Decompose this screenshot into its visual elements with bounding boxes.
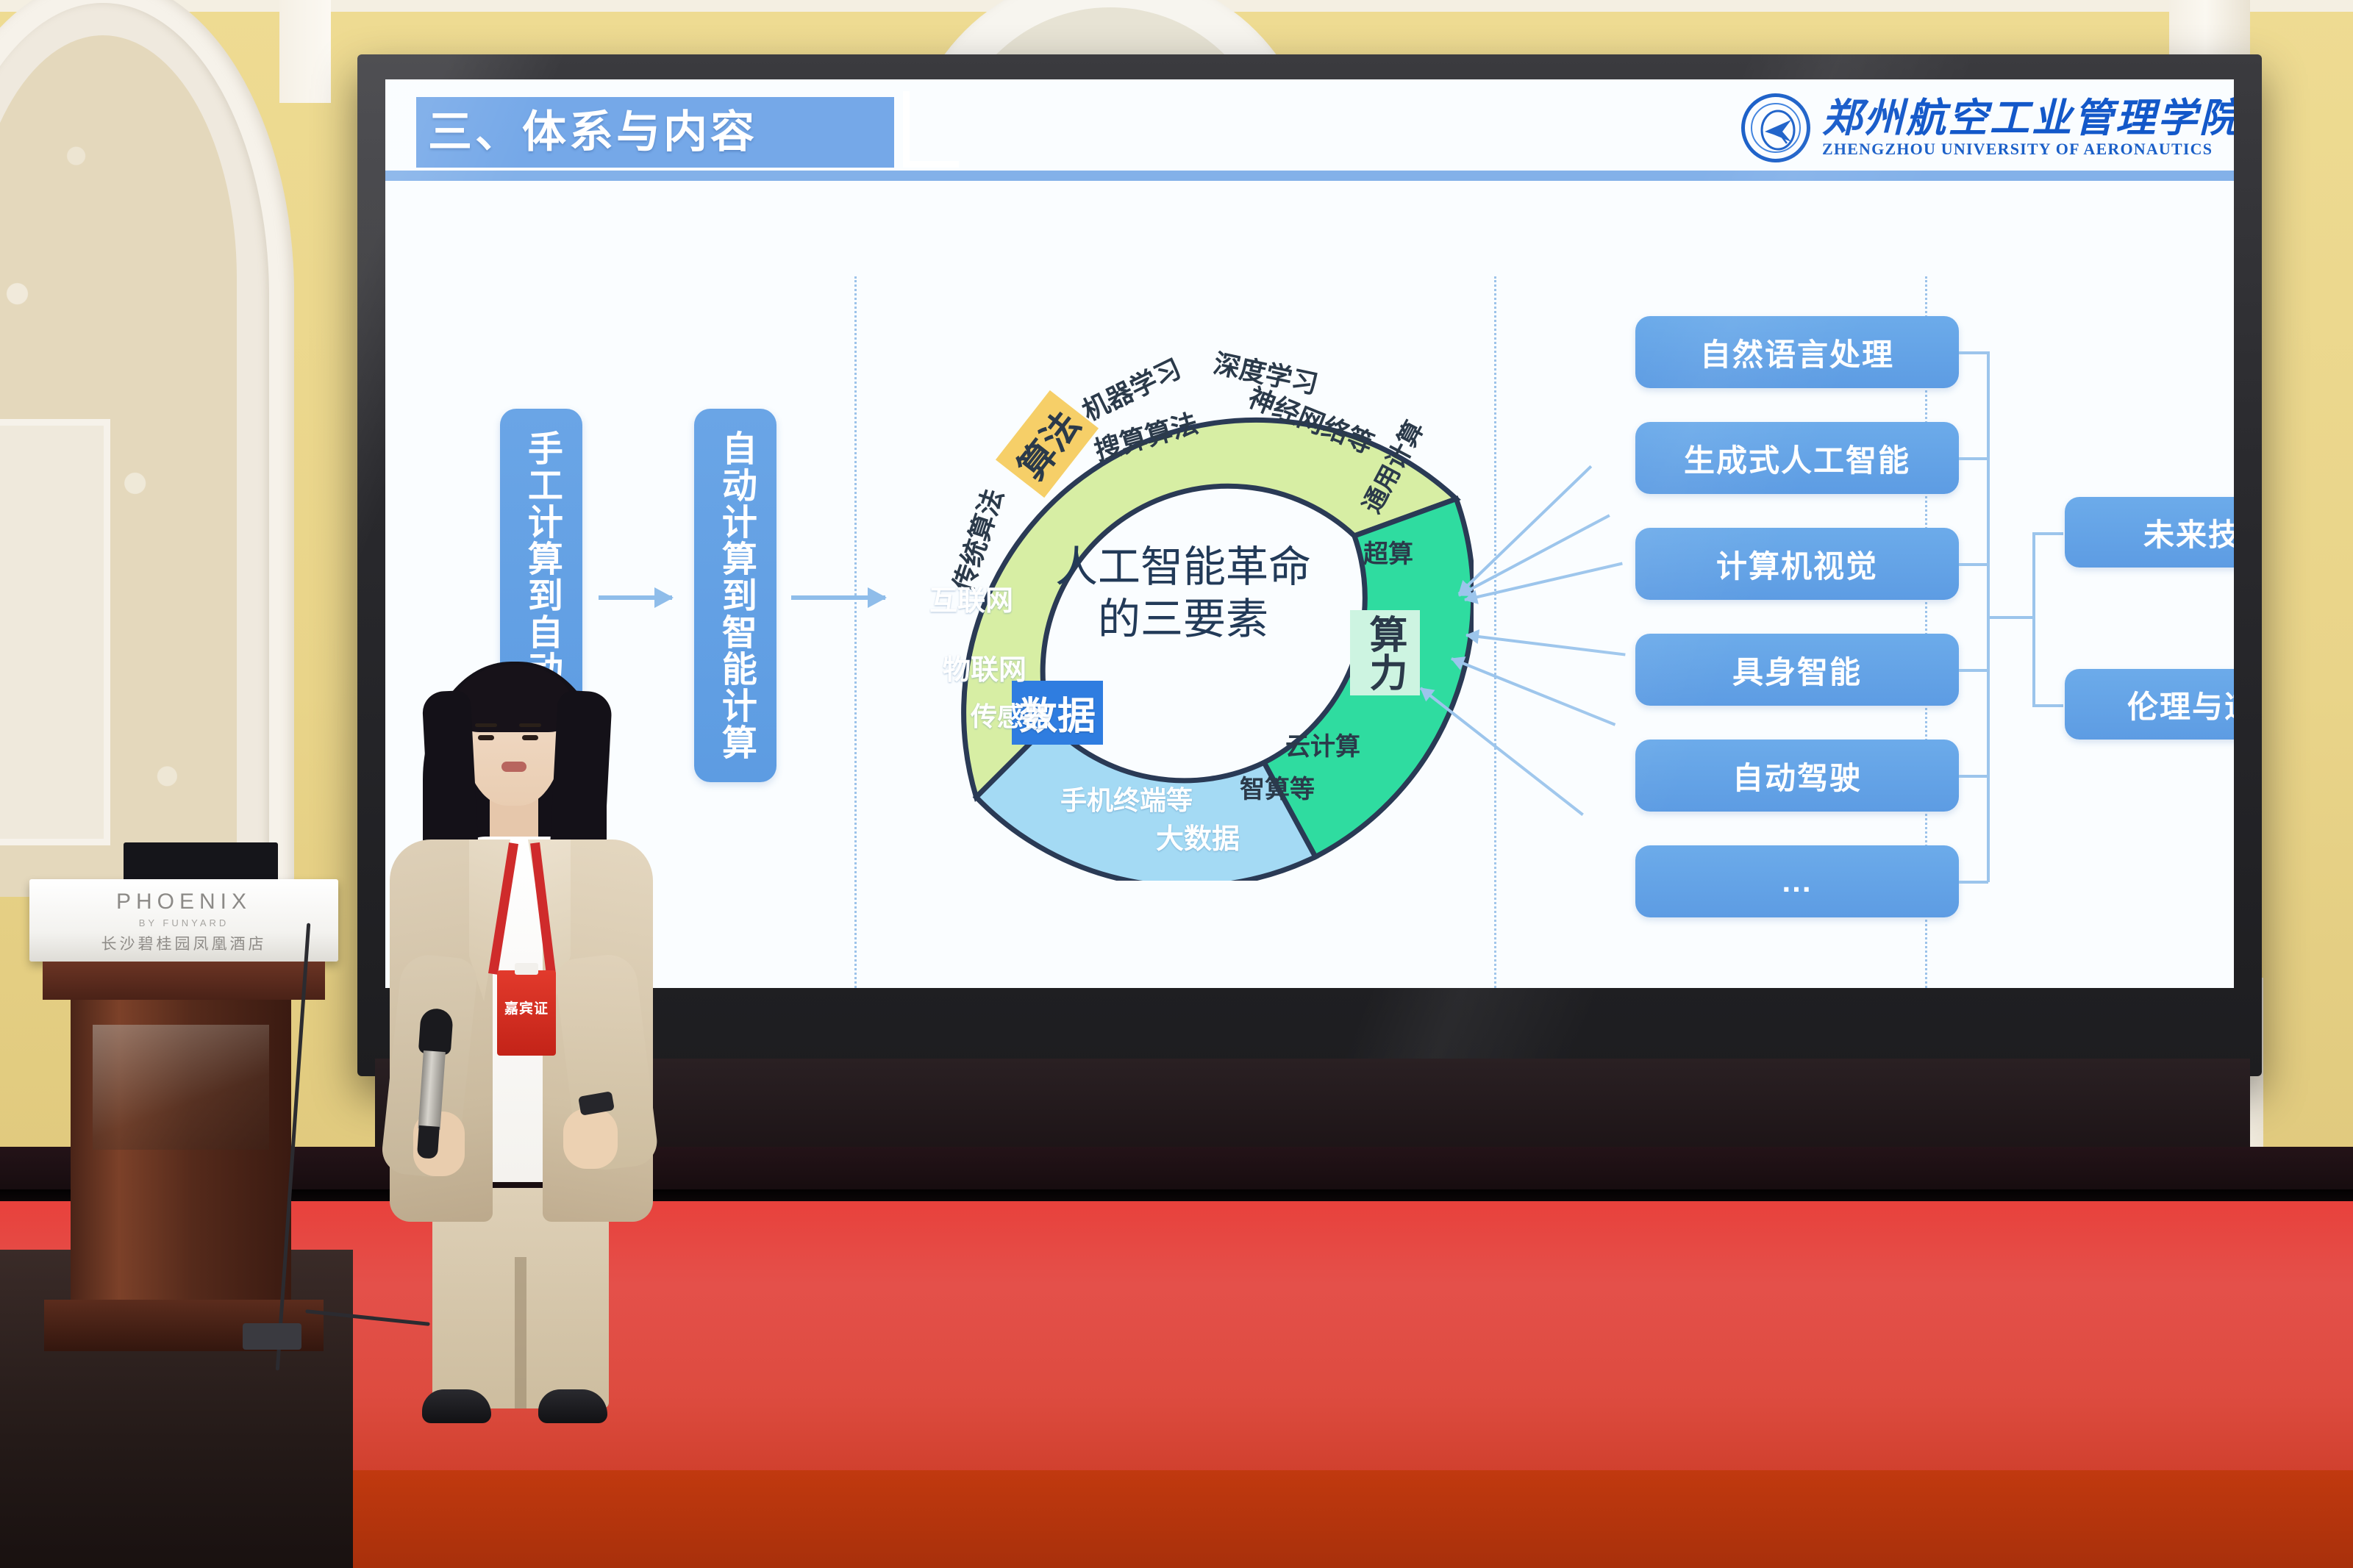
- app-arrow-3-icon: [1465, 562, 1623, 601]
- presenter-hand-right: [563, 1109, 618, 1169]
- application-label: ...: [1782, 864, 1812, 899]
- flow-arrow-2-icon: [791, 595, 885, 600]
- future-label: 未来技术: [2143, 510, 2234, 555]
- app-arrow-5-icon: [1451, 657, 1615, 726]
- university-logo: 郑州航空工业管理学院 ZHENGZHOU UNIVERSITY OF AERON…: [1741, 88, 2212, 168]
- donut-item-cloud-computing: 云计算: [1285, 726, 1360, 762]
- donut-center-title: 人工智能革命 的三要素: [1029, 520, 1338, 667]
- status-badge: 嘉宾证: [497, 970, 556, 1056]
- presenter-eye-right: [522, 735, 538, 740]
- presenter-shoe-right: [538, 1389, 607, 1423]
- logo-name-cn: 郑州航空工业管理学院: [1822, 97, 2234, 140]
- applications-bracket-stem: [1987, 616, 2032, 619]
- future-label: 伦理与道德: [2127, 682, 2234, 727]
- left-archway: [0, 0, 294, 897]
- application-label: 自动驾驶: [1732, 753, 1862, 798]
- donut-item-supercomputing: 超算: [1363, 534, 1413, 570]
- applications-bracket-tick: [1959, 669, 1988, 672]
- badge-label: 嘉宾证: [504, 998, 549, 1017]
- title-bracket-decoration: [903, 91, 959, 168]
- lectern-monitor: [124, 842, 278, 884]
- flow-arrow-1-icon: [599, 595, 672, 600]
- applications-bracket-tick: [1959, 881, 1988, 884]
- application-box-computer-vision[interactable]: 计算机视觉: [1635, 528, 1959, 600]
- application-box-more[interactable]: ...: [1635, 845, 1959, 917]
- presenter-brow-left: [475, 723, 497, 727]
- column-divider: [854, 276, 857, 988]
- column-divider: [1494, 276, 1496, 988]
- venue-name-cn: 长沙碧桂园凤凰酒店: [29, 932, 338, 954]
- donut-item-mobile-terminals: 手机终端等: [1060, 779, 1193, 817]
- app-arrow-4-icon: [1466, 634, 1626, 656]
- donut-item-sensors: 传感器: [971, 695, 1050, 734]
- applications-bracket-tick: [1959, 775, 1988, 778]
- future-bracket-tick: [2032, 532, 2063, 535]
- donut-item-big-data: 大数据: [1156, 816, 1240, 856]
- three-elements-donut-chart: 人工智能革命 的三要素 算法 机器学习 搜算算法 深度学习 神经网络等 传统算法…: [893, 300, 1474, 881]
- presenter: 嘉宾证: [346, 647, 691, 1426]
- donut-item-intelligent-computing: 智算等: [1240, 769, 1315, 805]
- presenter-eye-left: [478, 735, 494, 740]
- lectern-glass-panel: [93, 1025, 269, 1150]
- header-underline: [385, 171, 2234, 181]
- venue-brand-name: PHOENIX: [29, 889, 338, 914]
- stage-front-face: [0, 1470, 2353, 1568]
- application-box-embodied-ai[interactable]: 具身智能: [1635, 634, 1959, 706]
- slide-header: 三、体系与内容 郑州航空工业管理学院 ZHENGZHOU: [385, 79, 2234, 171]
- applications-bracket-tick: [1959, 457, 1988, 460]
- applications-bracket-tick: [1959, 563, 1988, 566]
- stage-box-label: 自动计算到智能计算: [715, 430, 755, 761]
- floor-equipment-box: [243, 1323, 301, 1350]
- conference-room-scene: 三、体系与内容 郑州航空工业管理学院 ZHENGZHOU: [0, 0, 2353, 1568]
- page-title: 三、体系与内容: [428, 109, 757, 156]
- stage-box-auto-to-intelligent[interactable]: 自动计算到智能计算: [694, 409, 776, 782]
- future-box-future-technology[interactable]: 未来技术: [2065, 497, 2234, 568]
- venue-brand-tagline: BY FUNYARD: [29, 917, 338, 928]
- future-box-ethics-and-morality[interactable]: 伦理与道德: [2065, 669, 2234, 740]
- lectern-sign-panel: PHOENIX BY FUNYARD 长沙碧桂园凤凰酒店: [29, 879, 338, 962]
- application-box-nlp[interactable]: 自然语言处理: [1635, 316, 1959, 388]
- presenter-brow-right: [519, 723, 541, 727]
- applications-bracket-tick: [1959, 351, 1988, 354]
- aircraft-seal-icon: [1741, 93, 1810, 162]
- application-label: 具身智能: [1732, 648, 1862, 692]
- presenter-trouser-seam: [515, 1257, 526, 1408]
- donut-item-internet: 互联网: [929, 578, 1013, 618]
- presenter-mouth: [501, 762, 526, 772]
- donut-item-iot: 物联网: [943, 647, 1026, 687]
- application-box-autonomous-driving[interactable]: 自动驾驶: [1635, 740, 1959, 812]
- application-box-generative-ai[interactable]: 生成式人工智能: [1635, 422, 1959, 494]
- future-bracket-tick: [2032, 704, 2063, 707]
- presenter-shoe-left: [422, 1389, 491, 1423]
- future-branch-bracket: [2032, 532, 2035, 704]
- logo-name-en: ZHENGZHOU UNIVERSITY OF AERONAUTICS: [1822, 140, 2234, 159]
- left-pilaster: [279, 0, 331, 103]
- application-label: 生成式人工智能: [1684, 436, 1910, 481]
- lectern-apron: [43, 962, 325, 1000]
- application-label: 计算机视觉: [1716, 542, 1878, 587]
- badge-clip: [515, 963, 538, 975]
- lectern: PHOENIX BY FUNYARD 长沙碧桂园凤凰酒店: [29, 851, 338, 1351]
- application-label: 自然语言处理: [1700, 330, 1894, 375]
- donut-key-compute: 算力: [1350, 610, 1420, 695]
